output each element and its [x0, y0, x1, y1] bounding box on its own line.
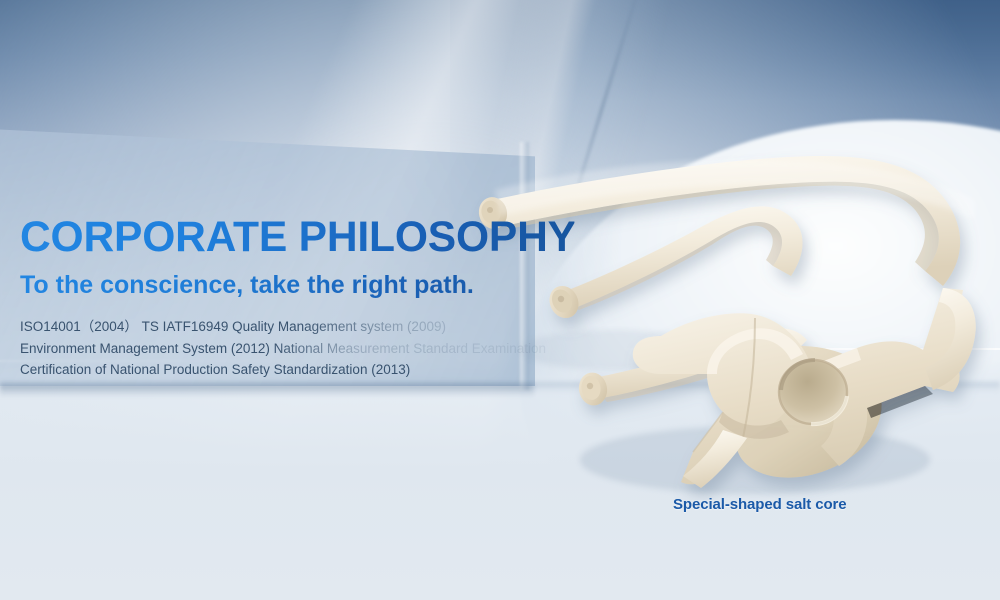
- certification-list: ISO14001（2004） TS IATF16949 Quality Mana…: [20, 316, 580, 381]
- page-title: CORPORATE PHILOSOPHY: [20, 216, 574, 259]
- page-subtitle: To the conscience, take the right path.: [20, 272, 580, 298]
- certification-line-3: Certification of National Production Saf…: [20, 359, 580, 381]
- product-caption: Special-shaped salt core: [673, 496, 847, 513]
- certification-line-2: Environment Management System (2012) Nat…: [20, 338, 580, 360]
- certification-line-1: ISO14001（2004） TS IATF16949 Quality Mana…: [20, 316, 580, 338]
- corporate-philosophy-banner: CORPORATE PHILOSOPHY To the conscience, …: [0, 0, 1000, 600]
- headline-text-block: CORPORATE PHILOSOPHY To the conscience, …: [20, 216, 580, 381]
